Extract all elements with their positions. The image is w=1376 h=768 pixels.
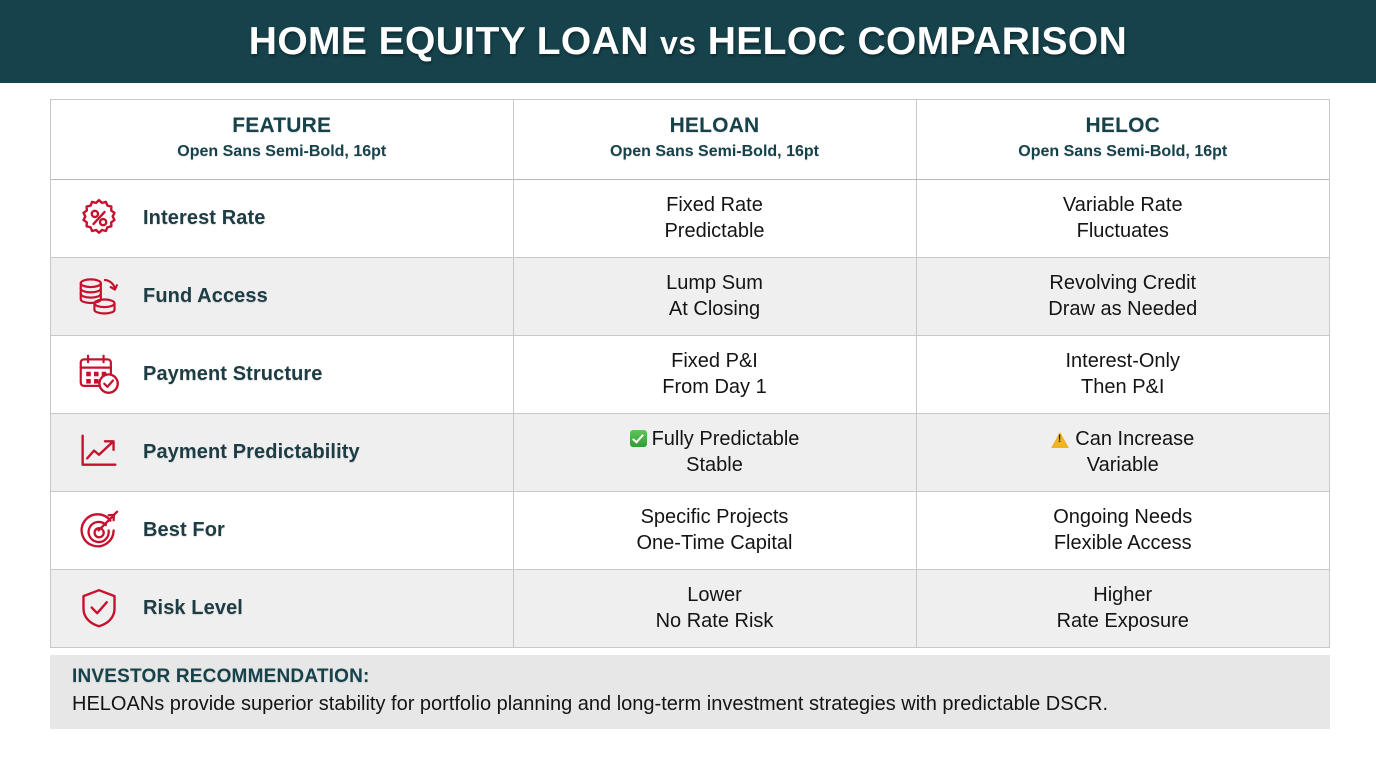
comparison-table-container: FEATURE Open Sans Semi-Bold, 16pt HELOAN…	[50, 99, 1330, 648]
value-line-secondary: Then P&I	[927, 374, 1320, 401]
feature-cell: Risk Level	[51, 569, 513, 647]
value-line-secondary: Predictable	[524, 218, 906, 245]
percent-badge-icon	[73, 195, 125, 241]
heloc-cell: Revolving Credit Draw as Needed	[916, 257, 1329, 335]
value-line-secondary: From Day 1	[524, 374, 906, 401]
heloan-cell: Fully Predictable Stable	[513, 413, 916, 491]
feature-cell: Best For	[51, 491, 513, 569]
value-line-secondary: Flexible Access	[927, 530, 1320, 557]
table-row: Payment Structure Fixed P&I From Day 1 I…	[51, 335, 1329, 413]
value-text: Can Increase	[1075, 428, 1194, 450]
column-title-heloc: HELOC	[925, 114, 1322, 138]
table-row: Risk Level Lower No Rate Risk Higher Rat…	[51, 569, 1329, 647]
page-title-part2: HELOC COMPARISON	[708, 20, 1128, 63]
value-line-primary: Lower	[524, 582, 906, 609]
feature-cell: Payment Predictability	[51, 413, 513, 491]
feature-label: Best For	[143, 519, 225, 542]
heloc-cell: Can Increase Variable	[916, 413, 1329, 491]
value-line-primary: Fully Predictable	[524, 426, 906, 453]
value-line-secondary: Fluctuates	[927, 218, 1320, 245]
value-line-primary: Ongoing Needs	[927, 504, 1320, 531]
value-line-primary: Fixed Rate	[524, 192, 906, 219]
table-row: Interest Rate Fixed Rate Predictable Var…	[51, 179, 1329, 257]
value-line-primary: Revolving Credit	[927, 270, 1320, 297]
comparison-table: FEATURE Open Sans Semi-Bold, 16pt HELOAN…	[51, 100, 1329, 647]
recommendation-title: INVESTOR RECOMMENDATION:	[72, 666, 1330, 688]
page-banner: HOME EQUITY LOAN vs HELOC COMPARISON	[0, 0, 1376, 83]
page-title-vs: vs	[660, 25, 696, 61]
recommendation-body: HELOANs provide superior stability for p…	[72, 691, 1330, 717]
heloc-cell: Ongoing Needs Flexible Access	[916, 491, 1329, 569]
column-header-heloc: HELOC Open Sans Semi-Bold, 16pt	[916, 100, 1329, 179]
value-line-secondary: Draw as Needed	[927, 296, 1320, 323]
value-line-secondary: No Rate Risk	[524, 608, 906, 635]
heloan-cell: Fixed Rate Predictable	[513, 179, 916, 257]
check-mark-green-icon	[630, 430, 647, 447]
value-line-primary: Interest-Only	[927, 348, 1320, 375]
column-subtitle-heloc: Open Sans Semi-Bold, 16pt	[925, 142, 1322, 163]
coins-stack-icon	[73, 273, 125, 319]
table-header: FEATURE Open Sans Semi-Bold, 16pt HELOAN…	[51, 100, 1329, 179]
infographic-page: HOME EQUITY LOAN vs HELOC COMPARISON FEA…	[0, 0, 1376, 768]
heloan-cell: Fixed P&I From Day 1	[513, 335, 916, 413]
page-title-part1: HOME EQUITY LOAN	[249, 20, 649, 63]
value-line-secondary: One-Time Capital	[524, 530, 906, 557]
feature-label: Interest Rate	[143, 207, 265, 230]
page-title: HOME EQUITY LOAN vs HELOC COMPARISON	[249, 20, 1127, 64]
column-subtitle-feature: Open Sans Semi-Bold, 16pt	[59, 142, 505, 163]
calendar-check-icon	[73, 351, 125, 397]
trend-up-chart-icon	[73, 429, 125, 475]
column-title-feature: FEATURE	[59, 114, 505, 138]
feature-label: Fund Access	[143, 285, 268, 308]
feature-cell: Interest Rate	[51, 179, 513, 257]
value-line-primary: Higher	[927, 582, 1320, 609]
value-text: Fully Predictable	[652, 428, 800, 450]
value-line-primary: Lump Sum	[524, 270, 906, 297]
shield-check-icon	[73, 585, 125, 631]
table-row: Best For Specific Projects One-Time Capi…	[51, 491, 1329, 569]
value-line-secondary: Variable	[927, 452, 1320, 479]
value-line-secondary: Rate Exposure	[927, 608, 1320, 635]
heloan-cell: Specific Projects One-Time Capital	[513, 491, 916, 569]
value-line-primary: Specific Projects	[524, 504, 906, 531]
target-dart-icon	[73, 507, 125, 553]
heloan-cell: Lump Sum At Closing	[513, 257, 916, 335]
heloc-cell: Interest-Only Then P&I	[916, 335, 1329, 413]
feature-cell: Payment Structure	[51, 335, 513, 413]
feature-label: Risk Level	[143, 597, 243, 620]
column-header-heloan: HELOAN Open Sans Semi-Bold, 16pt	[513, 100, 916, 179]
value-line-primary: Fixed P&I	[524, 348, 906, 375]
column-header-feature: FEATURE Open Sans Semi-Bold, 16pt	[51, 100, 513, 179]
column-title-heloan: HELOAN	[522, 114, 908, 138]
value-line-secondary: At Closing	[524, 296, 906, 323]
feature-label: Payment Predictability	[143, 441, 360, 464]
table-header-row: FEATURE Open Sans Semi-Bold, 16pt HELOAN…	[51, 100, 1329, 179]
table-row: Payment Predictability Fully Predictable…	[51, 413, 1329, 491]
value-line-primary: Can Increase	[927, 426, 1320, 453]
investor-recommendation-box: INVESTOR RECOMMENDATION: HELOANs provide…	[50, 655, 1330, 729]
feature-label: Payment Structure	[143, 363, 323, 386]
column-subtitle-heloan: Open Sans Semi-Bold, 16pt	[522, 142, 908, 163]
feature-cell: Fund Access	[51, 257, 513, 335]
heloc-cell: Higher Rate Exposure	[916, 569, 1329, 647]
value-line-primary: Variable Rate	[927, 192, 1320, 219]
heloc-cell: Variable Rate Fluctuates	[916, 179, 1329, 257]
table-body: Interest Rate Fixed Rate Predictable Var…	[51, 179, 1329, 647]
warning-triangle-yellow-icon	[1051, 432, 1069, 448]
value-line-secondary: Stable	[524, 452, 906, 479]
table-row: Fund Access Lump Sum At Closing Revolvin…	[51, 257, 1329, 335]
heloan-cell: Lower No Rate Risk	[513, 569, 916, 647]
